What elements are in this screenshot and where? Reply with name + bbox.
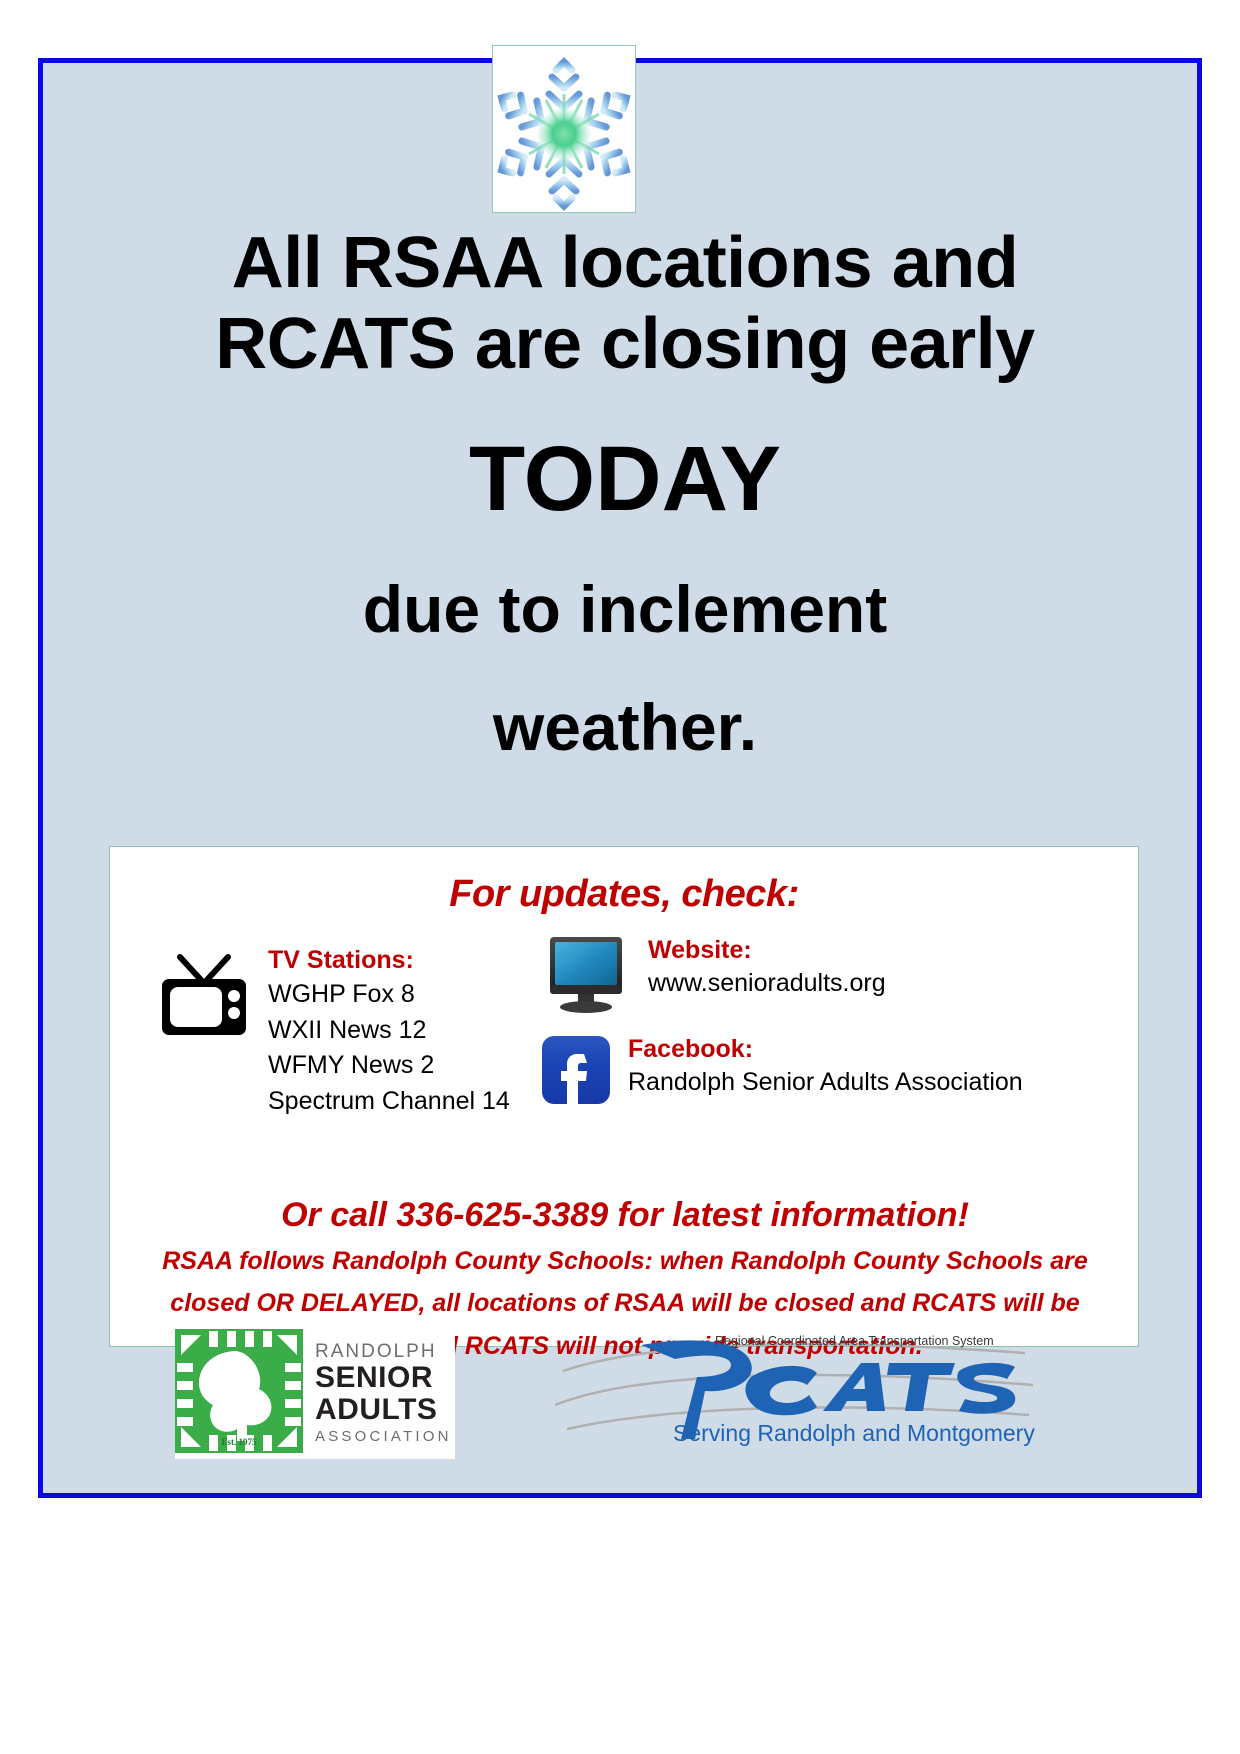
rsaa-wordmark: RANDOLPH SENIOR ADULTS ASSOCIATION [303,1342,455,1444]
monitor-icon [540,935,632,1020]
website-value[interactable]: www.senioradults.org [648,966,1120,1002]
facebook-value[interactable]: Randolph Senior Adults Association [628,1065,1120,1101]
headline-line-3b: weather. [103,689,1147,767]
headline-line-1: All RSAA locations and [103,223,1147,304]
website-block: Website: www.senioradults.org [540,935,1120,1020]
oak-tree-icon: Est. 1975 [175,1329,303,1458]
headline-line-3a: due to inclement [103,571,1147,649]
headline-line-2: RCATS are closing early [103,304,1147,385]
facebook-block: Facebook: Randolph Senior Adults Associa… [540,1034,1120,1111]
rsaa-word-senior: SENIOR [315,1363,455,1393]
television-icon [158,951,250,1044]
rsaa-word-association: ASSOCIATION [315,1429,455,1444]
website-text: Website: www.senioradults.org [648,935,1120,1002]
facebook-text: Facebook: Randolph Senior Adults Associa… [628,1034,1120,1101]
rcats-logo: Regional Coordinated Area Transportation… [555,1319,1035,1459]
rsaa-est-text: Est. 1975 [221,1437,257,1447]
facebook-label: Facebook: [628,1034,1120,1065]
rsaa-word-adults: ADULTS [315,1395,455,1425]
callout-policy-line-2: closed OR DELAYED, all locations of RSAA… [136,1286,1114,1321]
contacts-area: TV Stations: WGHP Fox 8 WXII News 12 WFM… [110,935,1138,1185]
online-contacts-block: Website: www.senioradults.org [540,935,1120,1125]
facebook-icon[interactable] [540,1034,612,1111]
rsaa-word-randolph: RANDOLPH [315,1342,455,1361]
rcats-tagline-text: Regional Coordinated Area Transportation… [715,1334,994,1348]
updates-card: For updates, check: TV Stations: [109,846,1139,1347]
rsaa-logo: Est. 1975 RANDOLPH SENIOR ADULTS ASSOCIA… [175,1327,455,1459]
rcats-swoosh-icon: Regional Coordinated Area Transportation… [555,1319,1035,1459]
headline-block: All RSAA locations and RCATS are closing… [103,223,1147,767]
poster-frame: All RSAA locations and RCATS are closing… [38,58,1202,1498]
callout-policy-line-1: RSAA follows Randolph County Schools: wh… [136,1244,1114,1279]
snowflake-icon [493,46,635,212]
updates-title: For updates, check: [110,847,1138,916]
snowflake-image [492,45,636,213]
rcats-serving-text: Serving Randolph and Montgomery Counties [673,1420,1035,1446]
website-label: Website: [648,935,1120,966]
headline-today: TODAY [103,428,1147,531]
tv-stations-block: TV Stations: WGHP Fox 8 WXII News 12 WFM… [158,945,588,1119]
callout-phone-line: Or call 336-625-3389 for latest informat… [136,1195,1114,1236]
